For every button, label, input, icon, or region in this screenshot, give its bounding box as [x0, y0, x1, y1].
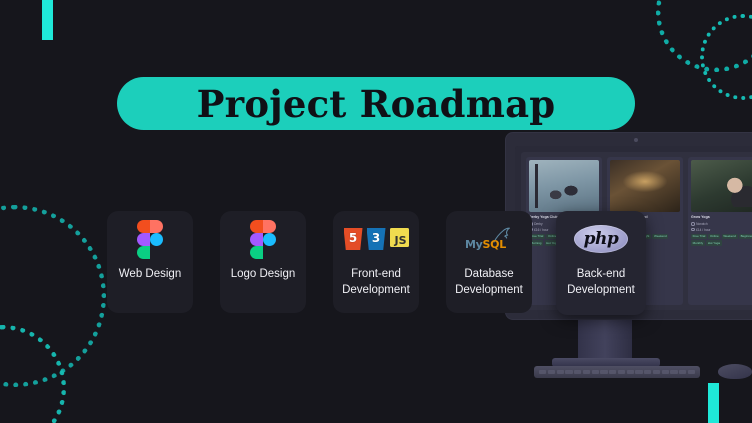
accent-bar-top-left	[42, 0, 53, 40]
page-title: Project Roadmap	[197, 82, 556, 126]
listing-photo	[610, 160, 680, 212]
keyboard-key	[653, 370, 660, 374]
keyboard-key	[557, 370, 564, 374]
listing-location-label: Derby	[534, 222, 543, 226]
roadmap-step-label: Back-end Development	[563, 267, 639, 299]
keyboard-key	[592, 370, 599, 374]
listing-location-label: Norwich	[696, 222, 708, 226]
mysql-my-label: My	[465, 238, 483, 251]
html5-icon: 5	[344, 228, 363, 250]
status-badge: Monthly	[691, 240, 705, 245]
currency-icon	[691, 228, 695, 232]
roadmap-step-frontend-development[interactable]: 5 3 JS Front-end Development	[333, 211, 419, 313]
roadmap-step-web-design[interactable]: Web Design	[107, 211, 193, 313]
keyboard-key	[688, 370, 695, 374]
status-badge: Weekend	[722, 234, 738, 239]
location-pin-icon	[691, 222, 695, 226]
javascript-icon: JS	[390, 228, 409, 247]
frontend-icon-group: 5 3 JS	[333, 211, 419, 267]
keyboard-key	[670, 370, 677, 374]
list-item[interactable]: Grow Yoga Norwich £14 / hour Free Trial …	[688, 157, 752, 305]
keyboard-key	[574, 370, 581, 374]
status-badge: Free Trial	[691, 234, 707, 239]
accent-bar-bottom-right	[708, 383, 719, 423]
listing-photo	[691, 160, 752, 212]
figma-icon	[107, 211, 193, 267]
figma-icon	[220, 211, 306, 267]
mysql-icon: MySQL	[446, 211, 532, 267]
listing-price-label: £14 / hour	[696, 228, 710, 232]
roadmap-step-label: Logo Design	[227, 267, 300, 283]
css3-icon: 3	[367, 228, 386, 250]
listing-photo	[529, 160, 599, 212]
status-badge: Beginner	[739, 234, 752, 239]
mysql-sql-label: SQL	[483, 238, 506, 251]
keyboard-key	[548, 370, 555, 374]
roadmap-step-label: Front-end Development	[338, 267, 414, 299]
keyboard-key	[679, 370, 686, 374]
keyboard	[534, 366, 700, 378]
php-icon: php	[556, 211, 646, 267]
roadmap-step-label: Database Development	[451, 267, 527, 299]
monitor-stand-neck	[578, 316, 632, 364]
status-badge: Online	[708, 234, 720, 239]
listing-price: £14 / hour	[691, 228, 752, 232]
keyboard-key	[583, 370, 590, 374]
listing-location: Norwich	[691, 222, 752, 226]
keyboard-key	[539, 370, 546, 374]
roadmap-step-label: Web Design	[115, 267, 185, 283]
php-label: php	[584, 231, 619, 248]
status-badge: Hot Yoga	[706, 240, 721, 245]
keyboard-key	[618, 370, 625, 374]
listing-tags: Free Trial Online Weekend Beginner Month…	[691, 234, 752, 246]
keyboard-key	[635, 370, 642, 374]
status-badge: Weekend	[652, 234, 668, 239]
listing-price-label: £16 / hour	[534, 228, 548, 232]
project-roadmap-slide: Derby Yoga Club Derby £16 / hour Free Tr…	[0, 0, 752, 423]
keyboard-key	[662, 370, 669, 374]
keyboard-key	[627, 370, 634, 374]
webcam-icon	[634, 138, 638, 142]
keyboard-key	[565, 370, 572, 374]
keyboard-key	[644, 370, 651, 374]
title-banner: Project Roadmap	[117, 77, 635, 130]
roadmap-step-backend-development[interactable]: php Back-end Development	[556, 211, 646, 315]
listing-title: Grow Yoga	[691, 215, 752, 220]
computer-mouse	[718, 364, 752, 379]
roadmap-step-database-development[interactable]: MySQL Database Development	[446, 211, 532, 313]
keyboard-key	[609, 370, 616, 374]
roadmap-step-logo-design[interactable]: Logo Design	[220, 211, 306, 313]
keyboard-key	[600, 370, 607, 374]
